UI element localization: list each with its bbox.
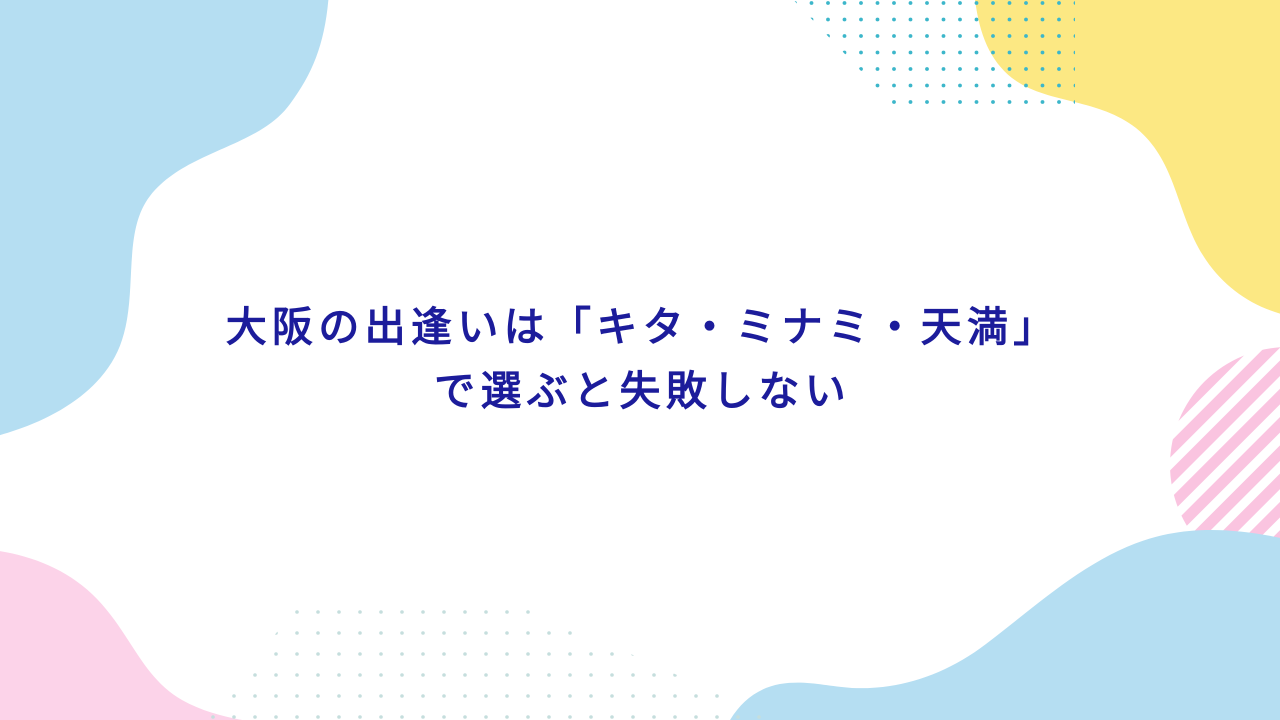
headline-line-1: 大阪の出逢いは「キタ・ミナミ・天満」 bbox=[220, 296, 1059, 360]
ogp-card-canvas: 大阪の出逢いは「キタ・ミナミ・天満」 で選ぶと失敗しない bbox=[0, 0, 1280, 720]
headline-line-2: で選ぶと失敗しない bbox=[429, 360, 851, 424]
headline-block: 大阪の出逢いは「キタ・ミナミ・天満」 で選ぶと失敗しない bbox=[0, 0, 1280, 720]
